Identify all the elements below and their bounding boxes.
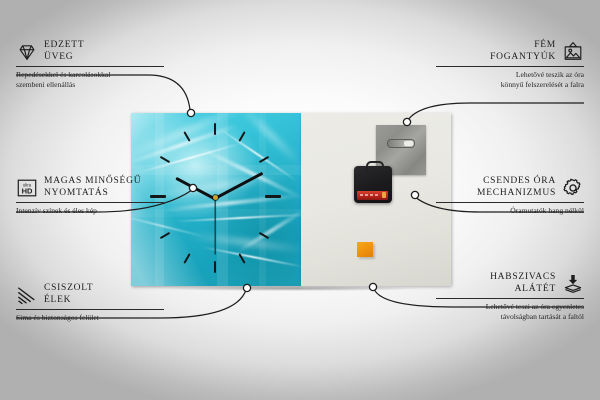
battery [357,191,388,200]
divider [16,202,164,203]
clock-movement [354,166,392,203]
divider [436,202,584,203]
diamond-icon [16,41,38,63]
feature-desc: Lehetővé teszi az óra egyenletes távolsá… [436,302,584,321]
feature-title: FÉM FOGANTYÚK [490,40,556,63]
movement-hanger-loop [366,161,384,172]
gear-icon [562,177,584,199]
product-photo [131,113,451,286]
divider [16,66,164,67]
feature-desc: Óramutatók hang nélkül [436,206,584,216]
divider [16,309,164,310]
feature-tempered-glass: EDZETT ÜVEG Repedésekkel és karcolásokka… [16,40,164,89]
feature-hq-print: ultra HD MAGAS MINŐSÉGŰ NYOMTATÁS Intenz… [16,176,164,216]
svg-text:HD: HD [22,186,33,195]
feature-desc: Sima és biztonságos felület [16,313,164,323]
product-shadow [118,285,463,292]
foam-pad [357,242,373,257]
feature-title: HABSZIVACS ALÁTÉT [490,272,556,295]
feature-title: MAGAS MINŐSÉGŰ NYOMTATÁS [44,176,141,199]
feature-polished-edges: CSISZOLT ÉLEK Sima és biztonságos felüle… [16,283,164,323]
feature-desc: Lehetővé teszik az óra könnyű felszerelé… [436,70,584,89]
clock-back-panel [301,113,451,286]
divider [436,66,584,67]
divider [436,298,584,299]
picture-hanger-icon [562,41,584,63]
polished-edges-icon [16,284,38,306]
feature-desc: Intenzív színek és éles kép [16,206,164,216]
feature-foam-pad: HABSZIVACS ALÁTÉT Lehetővé teszi az óra … [436,272,584,321]
feature-title: EDZETT ÜVEG [44,40,84,63]
hanger-slot [387,139,415,148]
feature-metal-handles: FÉM FOGANTYÚK Lehetővé teszik az óra kön… [436,40,584,89]
feature-title: CSISZOLT ÉLEK [44,283,93,306]
feature-title: CSENDES ÓRA MECHANIZMUS [477,176,556,199]
feature-desc: Repedésekkel és karcolásokkal szembeni e… [16,70,164,89]
infographic-canvas: EDZETT ÜVEG Repedésekkel és karcolásokka… [0,0,600,400]
foam-pad-icon [562,273,584,295]
feature-silent-movement: CSENDES ÓRA MECHANIZMUS Óramutatók hang … [436,176,584,216]
ultra-hd-icon: ultra HD [16,177,38,199]
